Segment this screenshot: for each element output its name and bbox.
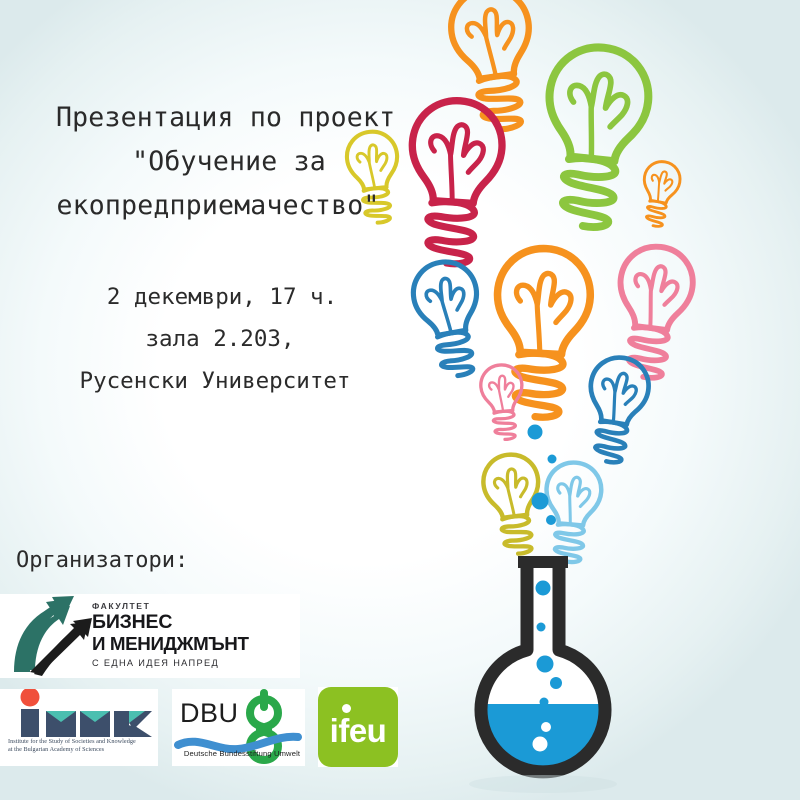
bulb-blue-right	[579, 353, 652, 466]
bulb-orange-center	[491, 246, 592, 419]
bubble-1	[548, 455, 557, 464]
faculty-title-line-2: И МЕНИДЖМЪНТ	[92, 633, 292, 654]
bubble-0	[528, 425, 543, 440]
issk-subtitle: Institute for the Study of Societies and…	[8, 738, 158, 755]
faculty-title-line-1: БИЗНЕС	[92, 612, 292, 633]
dbu-subtitle: Deutsche Bundesstiftung Umwelt	[179, 749, 305, 758]
poster-canvas: Презентация по проект "Обучение за екопр…	[0, 0, 800, 800]
ifeu-wordmark: ifeu	[318, 687, 398, 767]
faculty-logo-text: ФАКУЛТЕТ БИЗНЕС И МЕНИДЖМЪНТ С ЕДНА ИДЕЯ…	[92, 601, 292, 668]
bubble-3	[546, 515, 556, 525]
bulb-orange-tiny	[636, 159, 682, 229]
bulb-crimson	[404, 98, 505, 267]
event-details: 2 декември, 17 ч. зала 2.203, Русенски У…	[40, 276, 390, 402]
title-line-2: "Обучение за	[40, 140, 390, 184]
title-line-3: екопредприемачество"	[40, 184, 390, 228]
page-title: Презентация по проект "Обучение за екопр…	[40, 96, 390, 228]
event-venue: Русенски Университет	[40, 360, 390, 402]
bulb-green-large	[536, 43, 653, 232]
bulb-lightblue	[540, 460, 603, 564]
faculty-business-management-logo: ФАКУЛТЕТ БИЗНЕС И МЕНИДЖМЪНТ С ЕДНА ИДЕЯ…	[0, 594, 300, 678]
bulb-blue-left	[408, 257, 490, 381]
dbu-logo: DBU Deutsche Bundesstiftung Umwelt	[172, 689, 305, 766]
round-bottom-flask	[469, 556, 617, 793]
ifeu-logo: ifeu	[318, 687, 398, 767]
issk-subtitle-line-1: Institute for the Study of Societies and…	[8, 738, 158, 746]
issk-subtitle-line-2: at the Bulgarian Academy of Sciences	[8, 746, 158, 754]
event-datetime: 2 декември, 17 ч.	[40, 276, 390, 318]
event-room: зала 2.203,	[40, 318, 390, 360]
bubble-2	[532, 493, 549, 510]
issk-logo: Institute for the Study of Societies and…	[0, 689, 158, 766]
title-line-1: Презентация по проект	[40, 96, 390, 140]
organizers-label: Организатори:	[16, 548, 188, 573]
dbu-abbreviation: DBU	[180, 698, 239, 728]
faculty-tagline: С ЕДНА ИДЕЯ НАПРЕД	[92, 658, 292, 668]
bulb-pink-right	[609, 243, 697, 382]
ifeu-dot-icon	[342, 704, 351, 713]
